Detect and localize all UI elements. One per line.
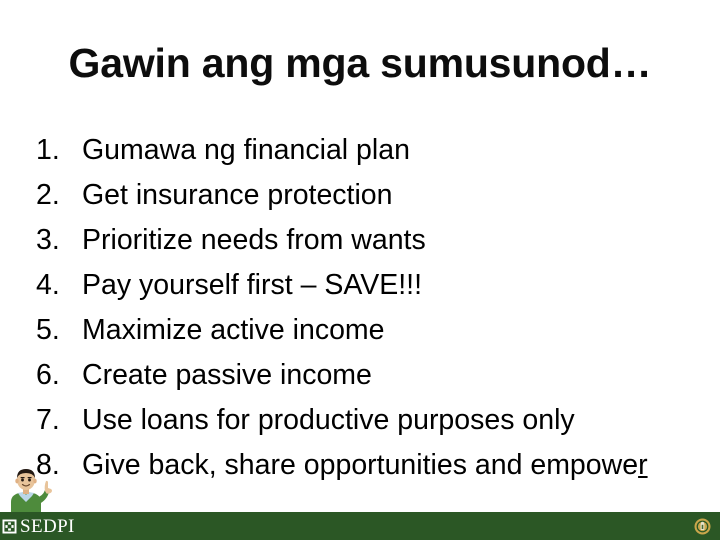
circular-seal-icon	[694, 518, 711, 535]
list-item: 4. Pay yourself first – SAVE!!!	[36, 263, 696, 308]
list-item-label: Pay yourself first – SAVE!!!	[82, 263, 422, 308]
list-item-label: Create passive income	[82, 353, 372, 398]
list-item-number: 2.	[36, 173, 82, 218]
list-item-label: Get insurance protection	[82, 173, 393, 218]
list-item-label: Give back, share opportunities and empow…	[82, 443, 648, 488]
list-item: 8. Give back, share opportunities and em…	[36, 443, 696, 488]
list-item: 6. Create passive income	[36, 353, 696, 398]
list-item: 3. Prioritize needs from wants	[36, 218, 696, 263]
numbered-list: 1. Gumawa ng financial plan 2. Get insur…	[36, 128, 696, 488]
list-item-number: 7.	[36, 398, 82, 443]
list-item-label: Prioritize needs from wants	[82, 218, 426, 263]
sedpi-logo-text: SEDPI	[20, 517, 75, 536]
list-item-label-underlined-tail: r	[638, 449, 648, 481]
list-item-label: Gumawa ng financial plan	[82, 128, 410, 173]
list-item: 7. Use loans for productive purposes onl…	[36, 398, 696, 443]
square-plus-icon	[2, 519, 17, 534]
footer-bar: SEDPI	[0, 512, 720, 540]
list-item: 5. Maximize active income	[36, 308, 696, 353]
page-title: Gawin ang mga sumusunod…	[0, 42, 720, 85]
list-item-label-main: Give back, share opportunities and empow…	[82, 449, 638, 481]
list-item-label: Maximize active income	[82, 308, 385, 353]
list-item: 1. Gumawa ng financial plan	[36, 128, 696, 173]
list-item-number: 5.	[36, 308, 82, 353]
slide-canvas: Gawin ang mga sumusunod… 1. Gumawa ng fi…	[0, 0, 720, 540]
list-item-number: 6.	[36, 353, 82, 398]
list-item-number: 4.	[36, 263, 82, 308]
list-item: 2. Get insurance protection	[36, 173, 696, 218]
sedpi-logo: SEDPI	[2, 513, 75, 539]
list-item-number: 3.	[36, 218, 82, 263]
list-item-number: 1.	[36, 128, 82, 173]
pointing-man-illustration	[3, 462, 57, 514]
list-item-label: Use loans for productive purposes only	[82, 398, 575, 443]
